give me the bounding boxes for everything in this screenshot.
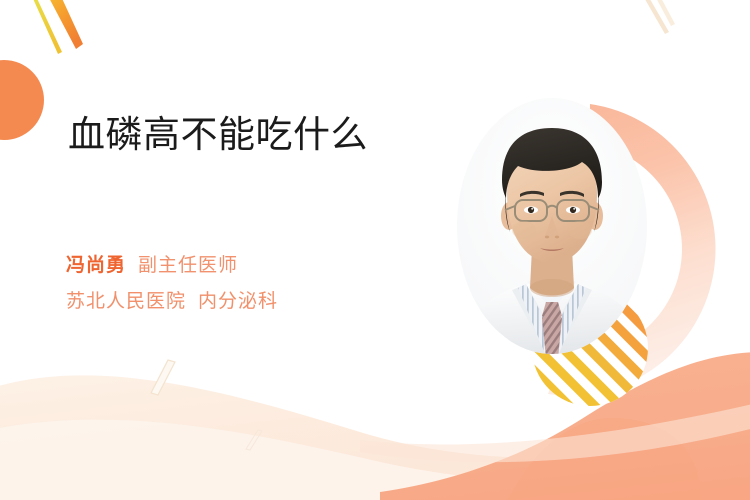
light-cream-wave-shape <box>0 420 750 500</box>
coral-blob-shape <box>500 418 700 500</box>
doctor-portrait-group <box>452 98 652 366</box>
cream-streak-shape-1 <box>642 0 669 34</box>
doctor-credit-line-1: 冯尚勇副主任医师 <box>66 248 278 284</box>
orange-circle-shape <box>0 60 44 140</box>
outline-bar-shape-2 <box>246 430 262 450</box>
doctor-topic-card: 血磷高不能吃什么 冯尚勇副主任医师 苏北人民医院内分泌科 <box>0 0 750 500</box>
doctor-name: 冯尚勇 <box>66 255 126 276</box>
yellow-streak-shape <box>30 0 62 54</box>
cream-streak-shape-2 <box>654 0 675 26</box>
department-name: 内分泌科 <box>198 291 278 312</box>
orange-streak-shape <box>47 0 83 49</box>
hospital-name: 苏北人民医院 <box>66 291 186 312</box>
page-title: 血磷高不能吃什么 <box>68 112 368 157</box>
doctor-portrait <box>452 98 750 418</box>
outline-bar-shape <box>151 360 175 395</box>
doctor-credit-line-2: 苏北人民医院内分泌科 <box>66 284 278 320</box>
doctor-rank: 副主任医师 <box>138 255 238 276</box>
doctor-credit-block: 冯尚勇副主任医师 苏北人民医院内分泌科 <box>66 248 278 320</box>
